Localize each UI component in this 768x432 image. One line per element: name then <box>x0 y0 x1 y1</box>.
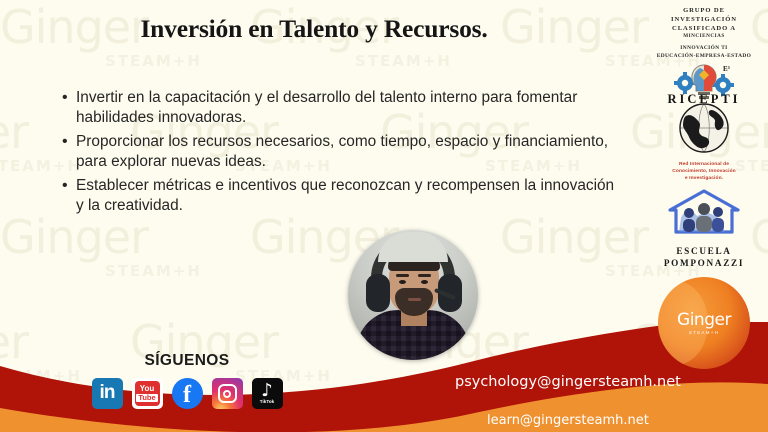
tiktok-note-glyph: ♪ <box>261 384 273 398</box>
tiktok-icon[interactable]: ♪ TikTok <box>252 378 283 409</box>
email-secondary[interactable]: learn@gingersteamh.net <box>487 413 649 428</box>
social-heading: SÍGUENOS <box>62 352 312 370</box>
minciencias-badge: E³ <box>723 65 730 73</box>
minciencias-line-3: CLASIFICADO A <box>640 24 768 33</box>
ricepti-subtitle-3: e Investigación. <box>640 175 768 182</box>
instagram-frame <box>218 384 237 403</box>
social-section: SÍGUENOS in You Tube f ♪ Tik <box>62 352 312 409</box>
minciencias-line-4: MINCIENCIAS <box>640 33 768 39</box>
social-icon-row: in You Tube f ♪ TikTok <box>62 378 312 409</box>
youtube-label-bottom: Tube <box>136 394 157 402</box>
page-title: Inversión en Talento y Recursos. <box>0 14 628 44</box>
headphone-cup-left <box>366 274 390 312</box>
minciencias-line-5: INNOVACIÓN TI <box>640 44 768 52</box>
house-people-icon <box>640 188 768 243</box>
facebook-label: f <box>183 383 191 407</box>
minciencias-line-1: GRUPO DE <box>640 6 768 15</box>
tiktok-label: TikTok <box>260 399 274 404</box>
instagram-icon[interactable] <box>212 378 243 409</box>
ricepti-subtitle-1: Red Internacional de <box>640 161 768 168</box>
ricepti-subtitle-2: Conocimiento, Innovación <box>640 168 768 175</box>
ginger-tagline: STEAM+H <box>658 330 750 335</box>
bullet-marker-icon: • <box>62 88 76 129</box>
logo-ricepti: RICEPTI Red Internacional de Conocimient… <box>640 92 768 182</box>
presenter-video-feed[interactable] <box>348 230 478 360</box>
bullet-marker-icon: • <box>62 176 76 217</box>
instagram-lens <box>223 390 231 398</box>
linkedin-label: in <box>92 378 123 409</box>
minciencias-line-2: INVESTIGACIÓN <box>640 15 768 24</box>
ginger-wordmark: Ginger <box>658 310 750 330</box>
escuela-line-2: POMPONAZZI <box>640 257 768 270</box>
logo-ginger: Ginger STEAM+H <box>640 277 768 369</box>
slide-canvas: Inversión en Talento y Recursos. • Inver… <box>0 0 768 432</box>
minciencias-line-6: EDUCACIÓN-EMPRESA-ESTADO <box>640 52 768 60</box>
globe-icon <box>640 104 768 159</box>
list-item-text: Invertir en la capacitación y el desarro… <box>76 88 622 129</box>
youtube-icon[interactable]: You Tube <box>132 378 163 409</box>
youtube-badge: You Tube <box>135 381 160 406</box>
escuela-line-1: ESCUELA <box>640 245 768 258</box>
list-item-text: Proporcionar los recursos necesarios, co… <box>76 132 622 173</box>
list-item: • Establecer métricas e incentivos que r… <box>62 176 622 217</box>
ginger-circle-badge: Ginger STEAM+H <box>658 277 750 369</box>
list-item: • Invertir en la capacitación y el desar… <box>62 88 622 129</box>
partner-logo-column: GRUPO DE INVESTIGACIÓN CLASIFICADO A MIN… <box>640 0 768 372</box>
email-primary[interactable]: psychology@gingersteamh.net <box>455 374 681 390</box>
youtube-label-top: You <box>140 385 155 393</box>
facebook-icon[interactable]: f <box>172 378 203 409</box>
list-item: • Proporcionar los recursos necesarios, … <box>62 132 622 173</box>
logo-escuela-pomponazzi: ESCUELA POMPONAZZI <box>640 188 768 271</box>
bullet-marker-icon: • <box>62 132 76 173</box>
bullet-list: • Invertir en la capacitación y el desar… <box>62 88 622 220</box>
linkedin-icon[interactable]: in <box>92 378 123 409</box>
list-item-text: Establecer métricas e incentivos que rec… <box>76 176 622 217</box>
